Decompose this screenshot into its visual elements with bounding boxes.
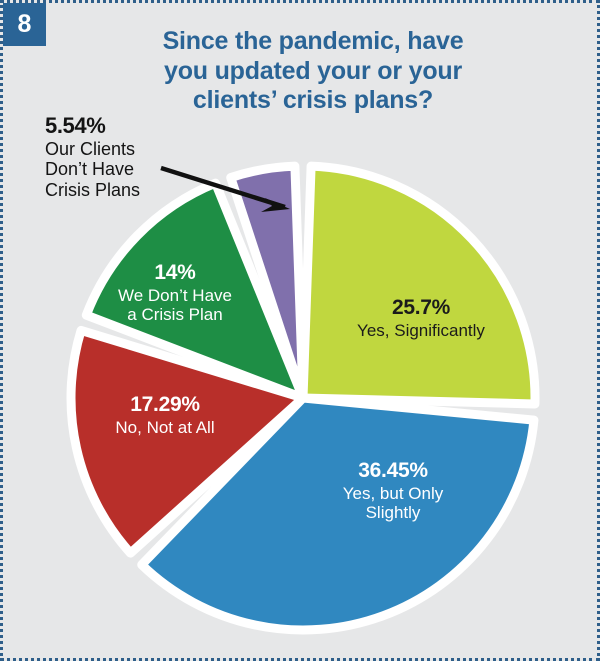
title-line-2: you updated your or your <box>113 57 513 87</box>
callout-percent: 5.54% <box>45 113 235 139</box>
title-line-1: Since the pandemic, have <box>113 27 513 57</box>
title-line-3: clients’ crisis plans? <box>113 86 513 116</box>
question-number: 8 <box>18 12 32 37</box>
callout-name-line-3: Crisis Plans <box>45 180 235 201</box>
callout-name-line-2: Don’t Have <box>45 159 235 180</box>
page-title: Since the pandemic, have you updated you… <box>113 27 513 116</box>
callout-label-our-clients-dont-have-crisis-plans: 5.54% Our Clients Don’t Have Crisis Plan… <box>45 113 235 201</box>
infographic-panel: 8 Since the pandemic, have you updated y… <box>0 0 600 661</box>
callout-name-line-1: Our Clients <box>45 139 235 160</box>
pie-slice <box>303 166 535 404</box>
question-number-badge: 8 <box>3 3 46 46</box>
